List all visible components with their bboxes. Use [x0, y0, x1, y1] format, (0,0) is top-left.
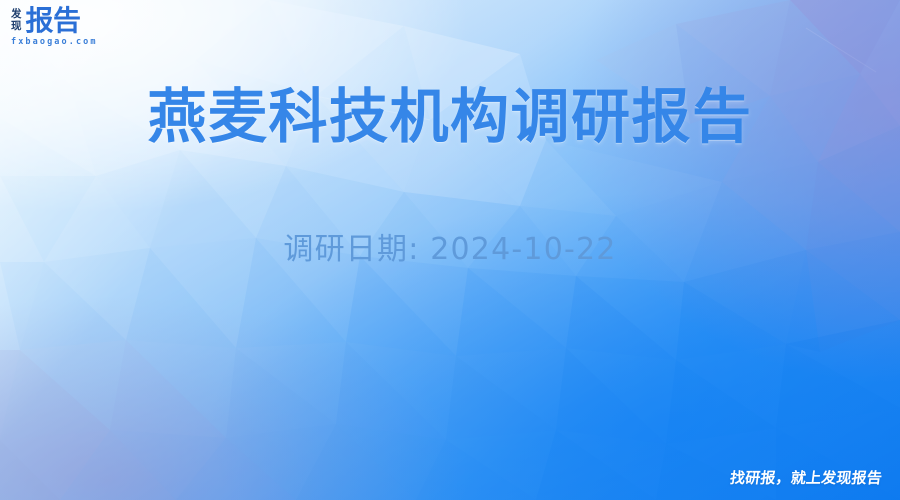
logo-row: 发 现 报告 [11, 8, 98, 35]
footer-tagline: 找研报，就上发现报告 [729, 471, 883, 486]
logo-url: fxbaogao.com [11, 37, 98, 47]
page-title: 燕麦科技机构调研报告 [0, 84, 900, 150]
logo-wordmark: 报告 [26, 8, 81, 35]
survey-date-line: 调研日期: 2024-10-22 [0, 232, 900, 268]
logo-mark-stack: 发 现 [11, 9, 22, 35]
logo-mark-char-2: 现 [11, 21, 22, 33]
subtitle-block: 调研日期: 2024-10-22 [0, 232, 900, 268]
site-logo[interactable]: 发 现 报告 fxbaogao.com [11, 8, 98, 47]
title-block: 燕麦科技机构调研报告 [0, 84, 900, 150]
report-cover: 发 现 报告 fxbaogao.com 燕麦科技机构调研报告 调研日期: 202… [0, 0, 900, 500]
